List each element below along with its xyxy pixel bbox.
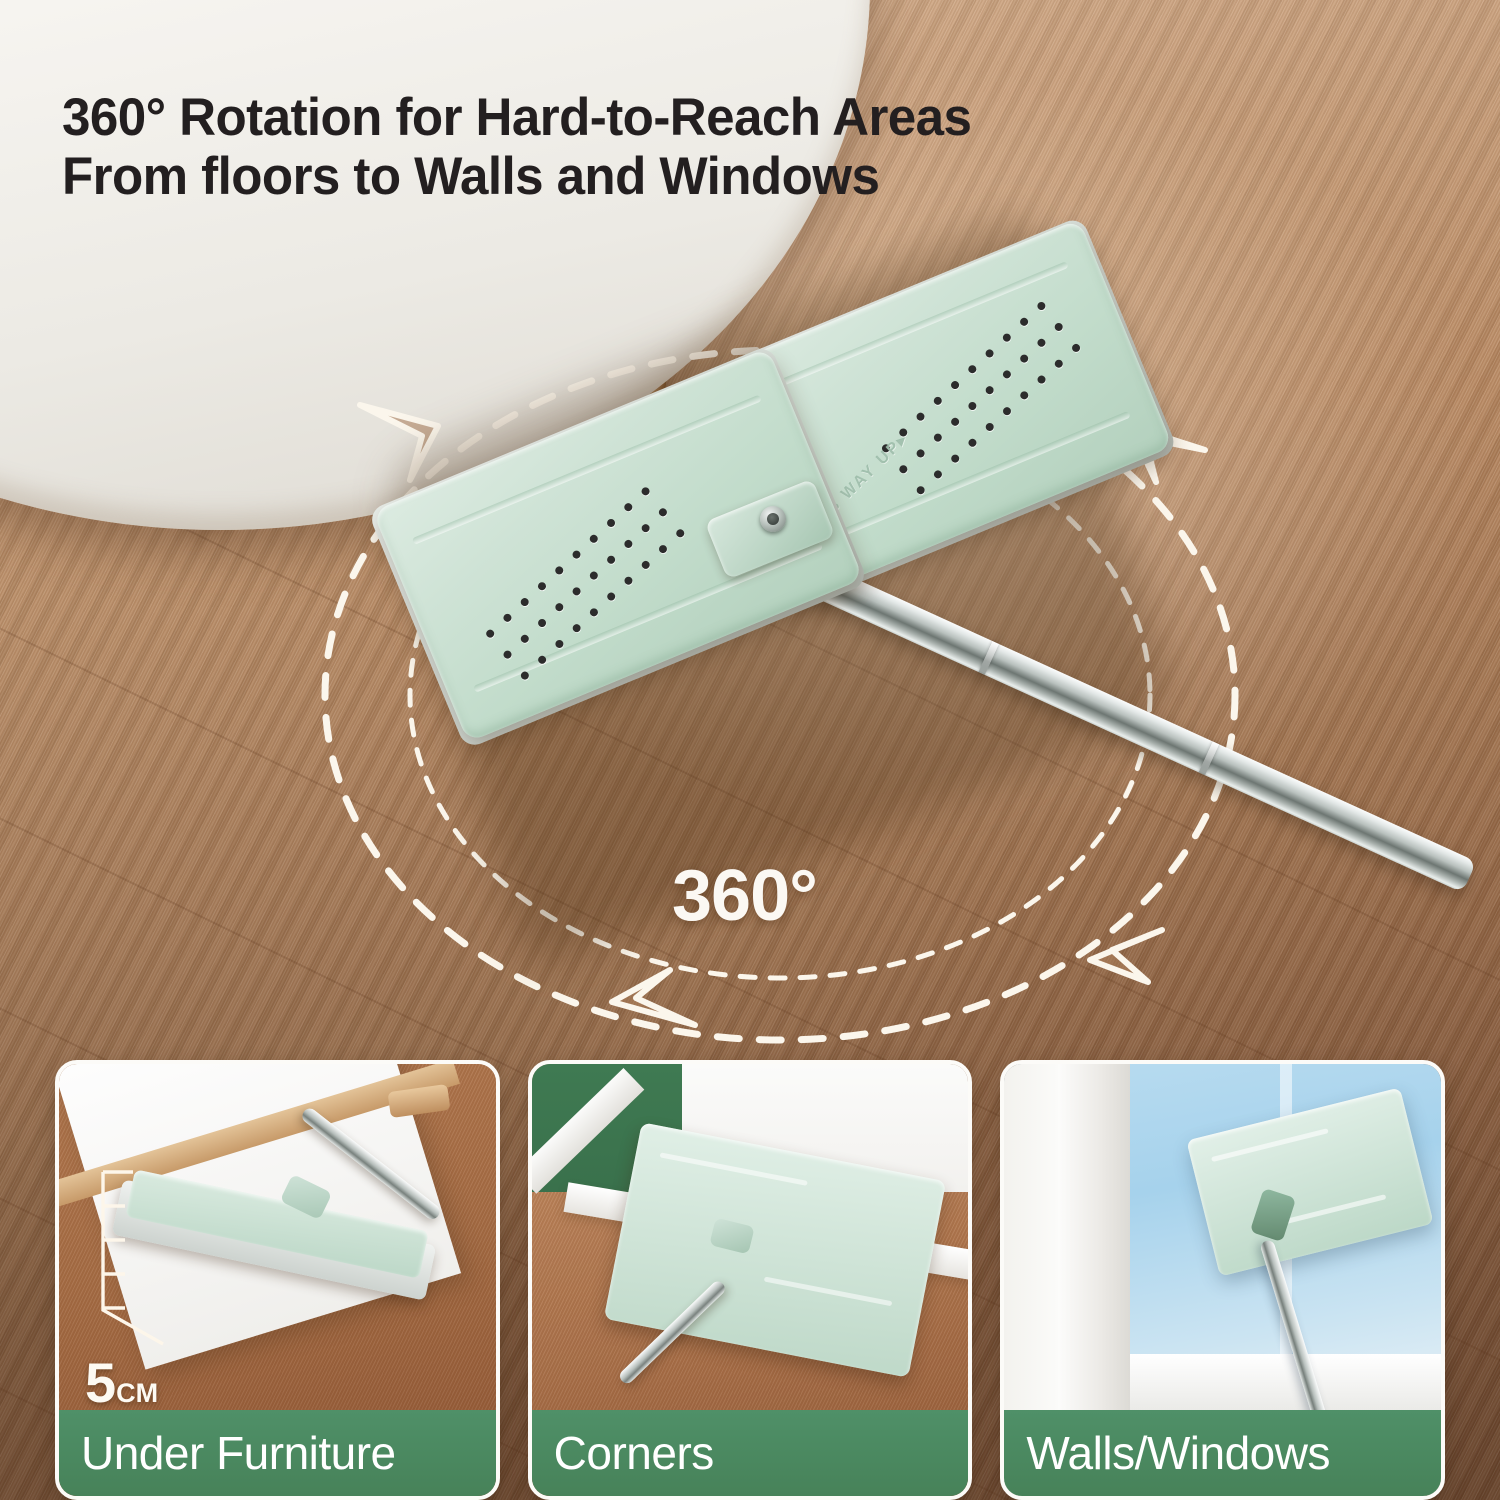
- panel-label-text: Corners: [532, 1426, 714, 1480]
- panel-label-text: Under Furniture: [59, 1426, 396, 1480]
- panel-under-furniture-label: Under Furniture: [59, 1410, 496, 1496]
- panel-walls-windows-label: Walls/Windows: [1004, 1410, 1441, 1496]
- feature-panels: 5CM Under Furniture: [0, 1060, 1500, 1500]
- panel-label-text: Walls/Windows: [1004, 1426, 1330, 1480]
- panel-corners[interactable]: Corners: [528, 1060, 973, 1500]
- callout-unit: CM: [116, 1378, 158, 1408]
- panel-walls-windows[interactable]: Walls/Windows: [1000, 1060, 1445, 1500]
- rotation-badge: 360°: [672, 855, 817, 937]
- headline: 360° Rotation for Hard-to-Reach Areas Fr…: [62, 88, 1004, 207]
- swivel-pin: [760, 506, 786, 532]
- product-feature-image: 360° Rotation for Hard-to-Reach Areas Fr…: [0, 0, 1500, 1500]
- panel-corners-label: Corners: [532, 1410, 969, 1496]
- height-callout: 5CM: [85, 1350, 158, 1415]
- height-ruler: [85, 1160, 205, 1350]
- headline-line-2: From floors to Walls and Windows: [62, 147, 971, 206]
- callout-value: 5: [85, 1351, 116, 1414]
- headline-line-1: 360° Rotation for Hard-to-Reach Areas: [62, 88, 971, 147]
- panel-under-furniture[interactable]: 5CM Under Furniture: [55, 1060, 500, 1500]
